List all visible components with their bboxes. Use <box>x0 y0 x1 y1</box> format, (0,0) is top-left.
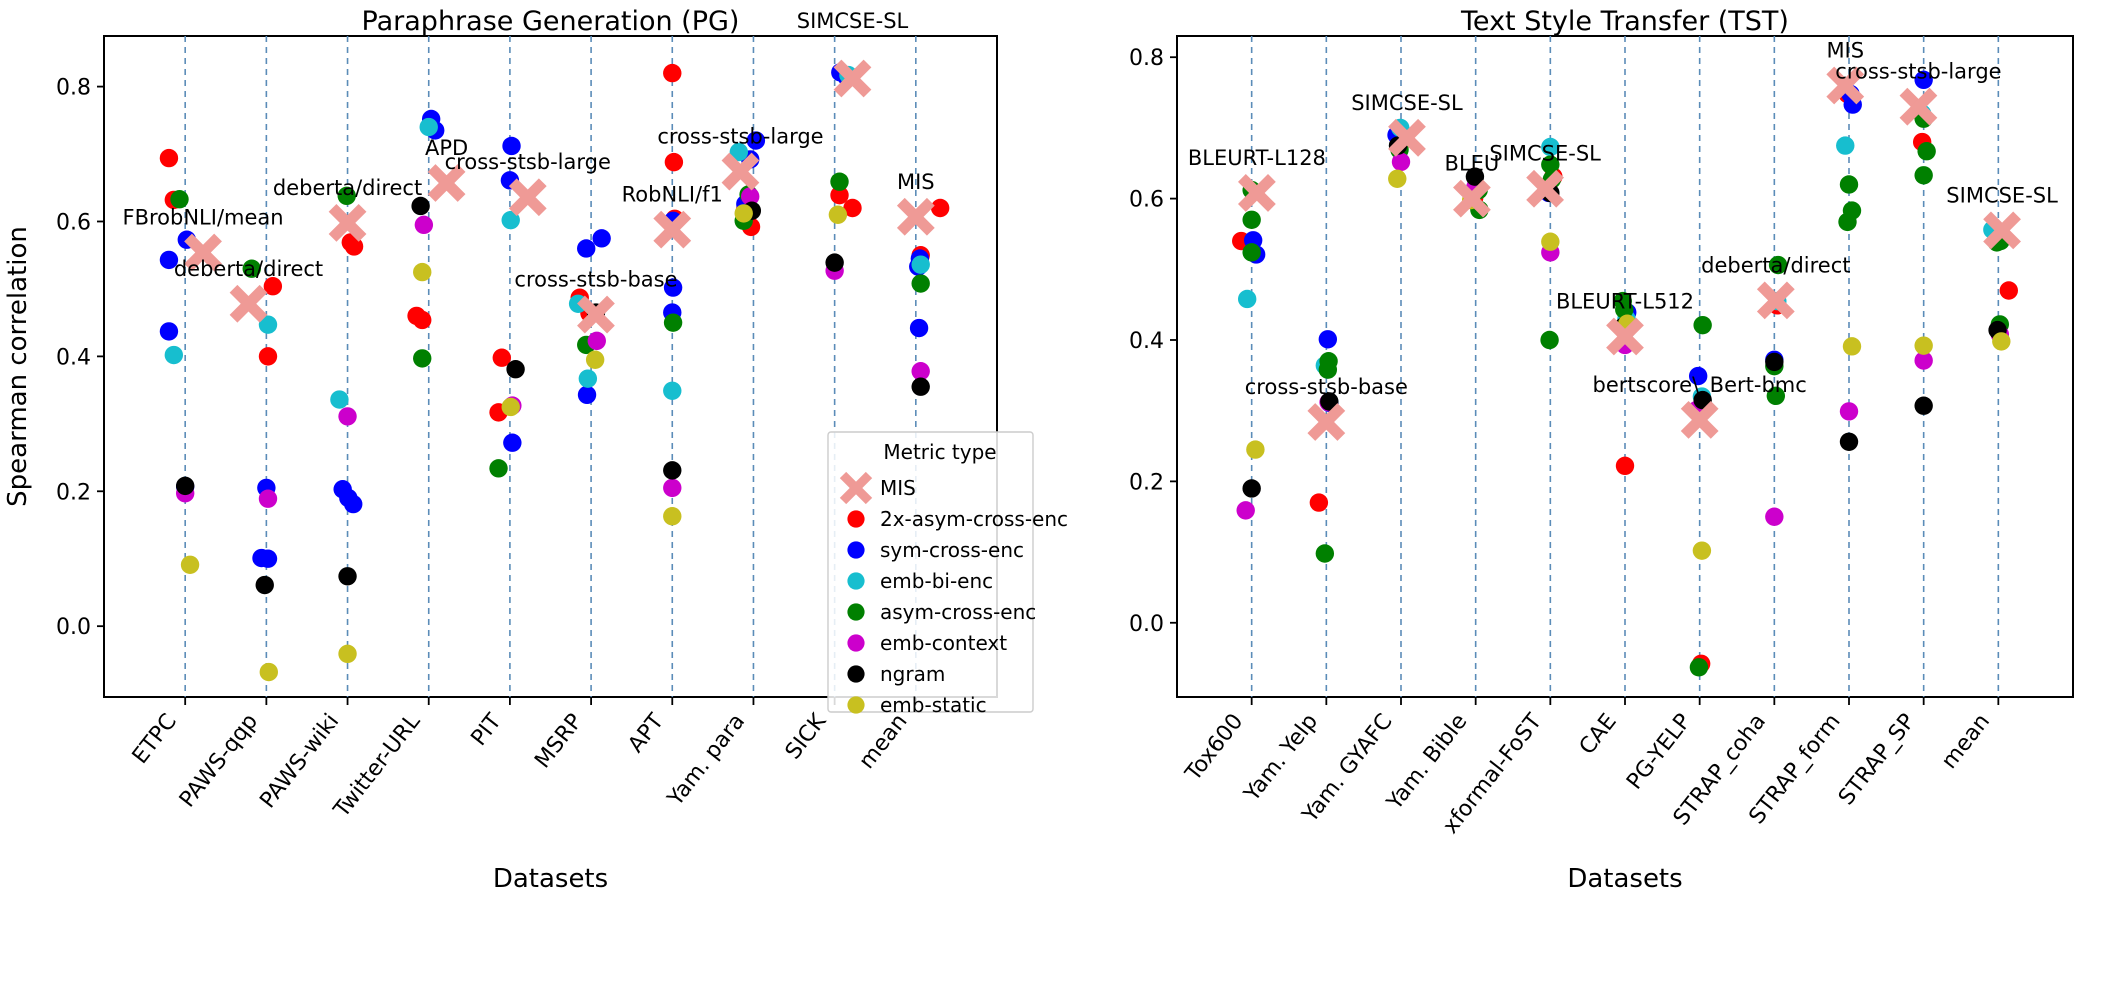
legend-marker-emb-context <box>847 634 864 651</box>
annotation-1-9: cross-stsb-large <box>1835 60 2001 84</box>
x-axis-label-0: Datasets <box>493 864 608 894</box>
x-tick-label-0-0: ETPC <box>128 709 182 768</box>
data-point-sym-cross-enc <box>160 322 178 340</box>
legend-label-MIS[interactable]: MIS <box>880 476 916 500</box>
data-point-asym-cross-enc <box>1840 175 1858 193</box>
data-point-asym-cross-enc <box>489 459 507 477</box>
data-point-ngram <box>1765 353 1783 371</box>
data-point-ngram <box>256 576 274 594</box>
data-point-sym-cross-enc <box>503 434 521 452</box>
data-point-2x-asym-cross-enc <box>931 199 949 217</box>
legend-marker-emb-bi-enc <box>847 572 864 589</box>
x-tick-label-0-1: PAWS-qqp <box>175 709 263 812</box>
y-tick-label-0-1: 0.2 <box>56 480 91 505</box>
data-point-emb-bi-enc <box>579 369 597 387</box>
annotation-0-7: cross-stsb-large <box>657 125 823 149</box>
data-point-emb-bi-enc <box>1238 290 1256 308</box>
data-point-emb-context <box>1392 153 1410 171</box>
data-point-emb-static <box>1992 332 2010 350</box>
data-point-emb-static <box>413 263 431 281</box>
x-tick-label-1-0: Tox600 <box>1180 709 1248 786</box>
data-point-emb-context <box>1840 402 1858 420</box>
panel-title-1: Text Style Transfer (TST) <box>1460 6 1789 37</box>
data-point-ngram <box>1914 397 1932 415</box>
data-point-asym-cross-enc <box>413 349 431 367</box>
data-point-emb-static <box>260 663 278 681</box>
data-point-emb-context <box>1765 508 1783 526</box>
legend-label-emb-static[interactable]: emb-static <box>880 693 987 717</box>
x-tick-label-1-1: Yam. Yelp <box>1239 709 1323 807</box>
data-point-emb-static <box>586 351 604 369</box>
data-point-sym-cross-enc <box>910 319 928 337</box>
y-tick-label-1-1: 0.2 <box>1129 470 1164 495</box>
data-point-asym-cross-enc <box>664 313 682 331</box>
data-point-emb-context <box>415 216 433 234</box>
annotation-0-1: deberta/direct <box>174 257 323 281</box>
panel-title-0: Paraphrase Generation (PG) <box>362 6 740 37</box>
data-point-2x-asym-cross-enc <box>1616 457 1634 475</box>
data-point-2x-asym-cross-enc <box>413 311 431 329</box>
data-point-emb-static <box>735 204 753 222</box>
y-tick-label-0-0: 0.0 <box>56 615 91 640</box>
data-point-emb-static <box>1388 170 1406 188</box>
data-point-asym-cross-enc <box>1690 658 1708 676</box>
data-point-emb-static <box>338 645 356 663</box>
data-point-emb-bi-enc <box>1836 136 1854 154</box>
data-point-ngram <box>176 477 194 495</box>
data-point-asym-cross-enc <box>1540 331 1558 349</box>
annotation-1-0: BLEURT-L128 <box>1188 146 1326 170</box>
data-point-sym-cross-enc <box>1319 330 1337 348</box>
legend-marker-ngram <box>847 665 864 682</box>
data-point-ngram <box>1242 479 1260 497</box>
annotation-0-8: SIMCSE-SL <box>797 9 909 33</box>
data-point-ngram <box>911 378 929 396</box>
data-point-emb-context <box>338 407 356 425</box>
annotation-1-7: deberta/direct <box>1701 253 1850 277</box>
data-point-2x-asym-cross-enc <box>259 347 277 365</box>
data-point-emb-bi-enc <box>165 346 183 364</box>
data-point-2x-asym-cross-enc <box>160 149 178 167</box>
data-point-asym-cross-enc <box>830 172 848 190</box>
data-point-ngram <box>825 253 843 271</box>
data-point-emb-context <box>663 479 681 497</box>
data-point-emb-static <box>1693 541 1711 559</box>
annotation-0-0: FBrobNLI/mean <box>123 206 284 230</box>
data-point-emb-static <box>829 206 847 224</box>
x-tick-label-0-4: PIT <box>466 709 506 751</box>
data-point-asym-cross-enc <box>1917 142 1935 160</box>
annotation-0-4: cross-stsb-large <box>445 150 611 174</box>
legend-label-emb-context[interactable]: emb-context <box>880 631 1007 655</box>
data-point-emb-static <box>502 398 520 416</box>
data-point-emb-bi-enc <box>420 118 438 136</box>
data-point-emb-bi-enc <box>663 382 681 400</box>
legend-label-emb-bi-enc[interactable]: emb-bi-enc <box>880 569 993 593</box>
data-point-asym-cross-enc <box>1242 211 1260 229</box>
x-tick-label-0-9: mean <box>854 709 912 774</box>
annotation-0-9: MIS <box>897 170 935 194</box>
y-tick-label-1-0: 0.0 <box>1129 612 1164 637</box>
legend-label-sym-cross-enc[interactable]: sym-cross-enc <box>880 538 1024 562</box>
data-point-emb-bi-enc <box>330 390 348 408</box>
data-point-2x-asym-cross-enc <box>665 153 683 171</box>
x-tick-label-1-9: STRAP_SP <box>1834 709 1920 810</box>
legend-label-2x-asym-cross-enc[interactable]: 2x-asym-cross-enc <box>880 507 1068 531</box>
y-tick-label-1-3: 0.6 <box>1129 188 1164 213</box>
legend-marker-asym-cross-enc <box>847 603 864 620</box>
data-point-ngram <box>338 567 356 585</box>
data-point-asym-cross-enc <box>1316 544 1334 562</box>
x-axis-label-1: Datasets <box>1567 864 1682 894</box>
data-point-sym-cross-enc <box>577 239 595 257</box>
x-tick-label-1-10: mean <box>1937 709 1995 774</box>
data-point-2x-asym-cross-enc <box>663 64 681 82</box>
data-point-asym-cross-enc <box>1242 243 1260 261</box>
data-point-2x-asym-cross-enc <box>345 237 363 255</box>
y-tick-label-0-2: 0.4 <box>56 345 91 370</box>
annotation-0-6: RobNLI/f1 <box>622 183 723 207</box>
annotation-0-2: deberta/direct <box>273 176 422 200</box>
annotation-1-2: SIMCSE-SL <box>1351 91 1463 115</box>
x-tick-label-0-2: PAWS-wiki <box>255 709 344 813</box>
data-point-emb-bi-enc <box>911 255 929 273</box>
data-point-emb-static <box>1914 336 1932 354</box>
data-point-2x-asym-cross-enc <box>2000 281 2018 299</box>
legend-title: Metric type <box>883 440 996 464</box>
data-point-sym-cross-enc <box>578 386 596 404</box>
x-tick-label-0-7: Yam. para <box>663 709 751 811</box>
y-tick-label-0-4: 0.8 <box>56 76 91 101</box>
legend-marker-emb-static <box>847 696 864 713</box>
x-tick-label-0-8: SICK <box>781 709 832 764</box>
mis-marker <box>234 289 264 319</box>
legend-label-ngram[interactable]: ngram <box>880 662 945 686</box>
data-point-emb-static <box>663 507 681 525</box>
data-point-2x-asym-cross-enc <box>1310 493 1328 511</box>
data-point-asym-cross-enc <box>911 274 929 292</box>
data-point-ngram <box>663 461 681 479</box>
data-point-ngram <box>1840 433 1858 451</box>
data-point-sym-cross-enc <box>592 229 610 247</box>
y-tick-label-1-2: 0.4 <box>1129 329 1164 354</box>
legend-marker-sym-cross-enc <box>847 541 864 558</box>
data-point-asym-cross-enc <box>1693 316 1711 334</box>
annotation-1-1: cross-stsb-base <box>1245 375 1408 399</box>
figure-canvas: Paraphrase Generation (PG)0.00.20.40.60.… <box>0 0 2113 988</box>
x-tick-label-1-5: CAE <box>1575 709 1622 759</box>
x-tick-label-0-5: MSRP <box>530 709 588 773</box>
data-point-ngram <box>506 360 524 378</box>
data-point-sym-cross-enc <box>259 550 277 568</box>
data-point-emb-static <box>1246 440 1264 458</box>
data-point-sym-cross-enc <box>344 495 362 513</box>
y-tick-label-1-4: 0.8 <box>1129 46 1164 71</box>
data-point-asym-cross-enc <box>1838 213 1856 231</box>
data-point-asym-cross-enc <box>1914 166 1932 184</box>
data-point-emb-context <box>1236 501 1254 519</box>
data-point-emb-context <box>588 332 606 350</box>
annotation-1-10: SIMCSE-SL <box>1946 183 2058 207</box>
y-tick-label-0-3: 0.6 <box>56 210 91 235</box>
data-point-emb-static <box>1541 233 1559 251</box>
annotation-1-4: SIMCSE-SL <box>1489 142 1601 166</box>
mis-marker <box>725 157 755 187</box>
y-axis-label: Spearman correlation <box>3 226 33 507</box>
annotation-0-5: cross-stsb-base <box>514 268 677 292</box>
x-tick-label-0-3: Twitter-URL <box>329 709 426 823</box>
data-point-emb-context <box>259 490 277 508</box>
mis-marker <box>513 182 543 212</box>
x-tick-label-0-6: APT <box>624 709 670 758</box>
legend-marker-2x-asym-cross-enc <box>847 510 864 527</box>
data-point-emb-static <box>1843 337 1861 355</box>
x-tick-label-1-6: PG-YELP <box>1622 709 1696 794</box>
scatter-figure: Paraphrase Generation (PG)0.00.20.40.60.… <box>0 0 2113 988</box>
annotation-1-6: bertscore\_Bert-bmc <box>1593 373 1807 398</box>
legend-label-asym-cross-enc[interactable]: asym-cross-enc <box>880 600 1036 624</box>
data-point-emb-static <box>181 556 199 574</box>
annotation-1-5: BLEURT-L512 <box>1556 289 1694 313</box>
